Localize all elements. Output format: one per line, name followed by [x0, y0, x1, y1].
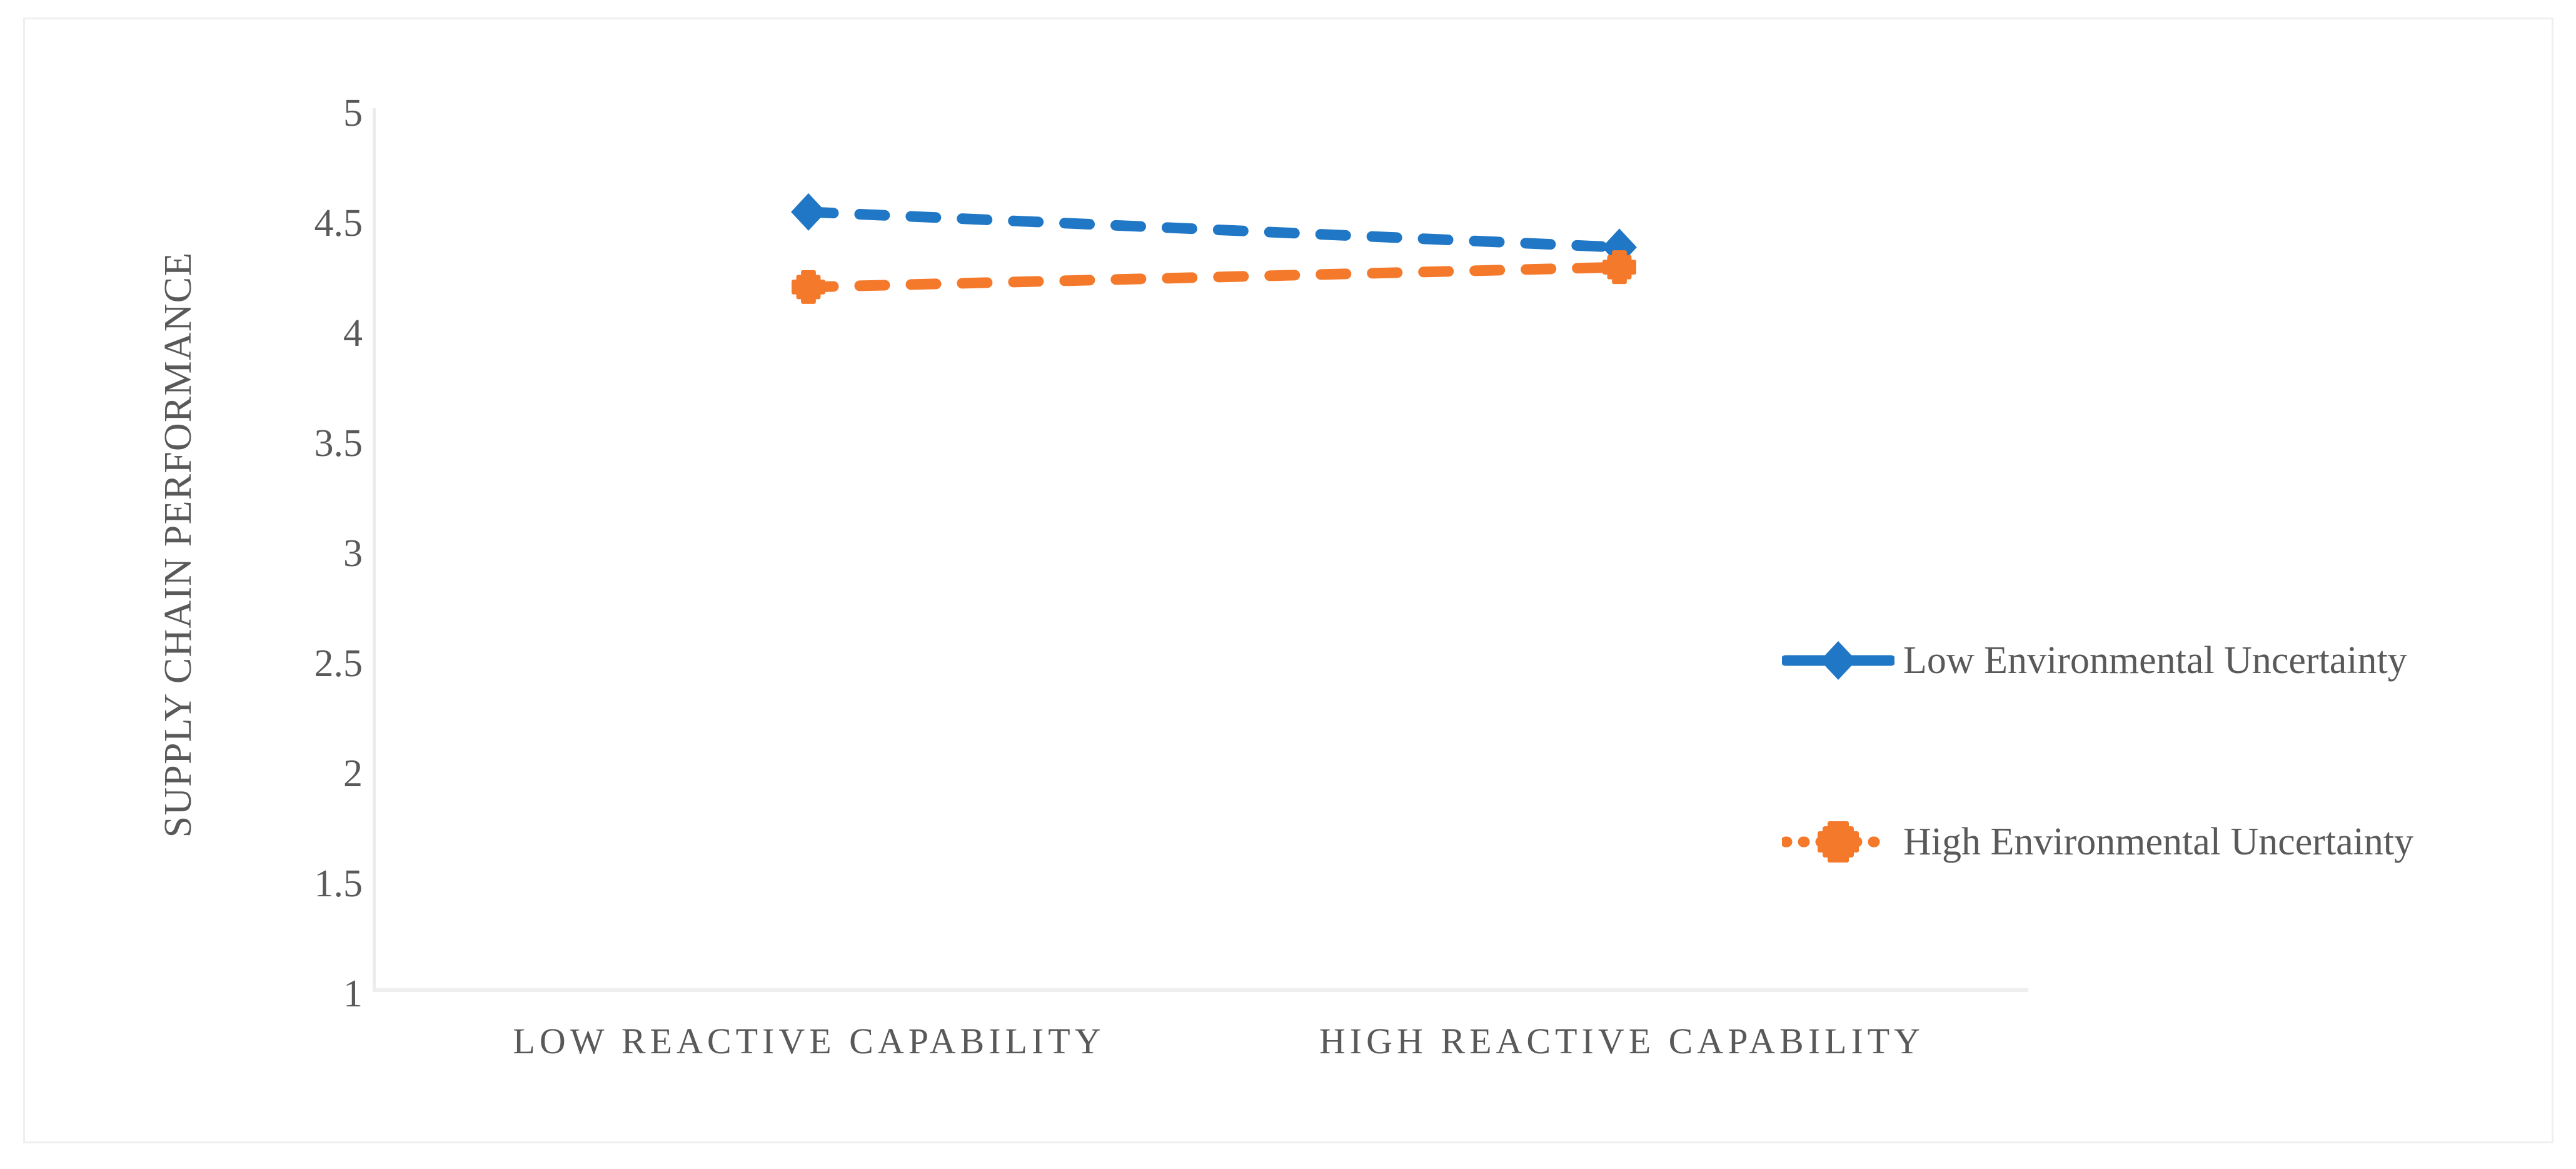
series-line — [808, 212, 1619, 247]
y-tick-label: 4 — [238, 314, 363, 353]
chart-legend: Low Environmental Uncertainty High Envir… — [1782, 632, 2495, 870]
plot-area — [373, 108, 2030, 991]
legend-item-label: Low Environmental Uncertainty — [1894, 639, 2407, 683]
x-axis-tick-labels: LOW REACTIVE CAPABILITY HIGH REACTIVE CA… — [373, 1020, 2030, 1076]
y-tick-label: 1.5 — [238, 864, 363, 903]
legend-item-low-environmental-uncertainty[interactable]: Low Environmental Uncertainty — [1782, 632, 2407, 689]
y-tick-label: 3 — [238, 534, 363, 573]
y-axis-tick-labels: 5 4.5 4 3.5 3 2.5 2 1.5 1 — [238, 94, 363, 1008]
y-tick-label: 2 — [238, 754, 363, 793]
legend-item-high-environmental-uncertainty[interactable]: High Environmental Uncertainty — [1782, 814, 2413, 870]
series-layer — [791, 193, 1637, 304]
series-marker — [1602, 250, 1636, 284]
series-marker — [791, 193, 826, 231]
y-tick-label: 3.5 — [238, 424, 363, 463]
legend-item-label: High Environmental Uncertainty — [1894, 820, 2413, 864]
x-cross-marker-icon — [1782, 814, 1894, 870]
x-tick-label: LOW REACTIVE CAPABILITY — [403, 1020, 1215, 1062]
series-line — [808, 267, 1619, 287]
y-tick-label: 5 — [238, 94, 363, 133]
y-tick-label: 1 — [238, 974, 363, 1013]
x-tick-label: HIGH REACTIVE CAPABILITY — [1215, 1020, 2028, 1062]
series-marker — [792, 270, 825, 304]
y-tick-label: 2.5 — [238, 644, 363, 683]
diamond-marker-icon — [1782, 632, 1894, 689]
y-tick-label: 4.5 — [238, 204, 363, 243]
y-axis-title: SUPPLY CHAIN PERFORMANCE — [150, 201, 206, 889]
series-plot — [373, 108, 2030, 991]
chart-figure: SUPPLY CHAIN PERFORMANCE 5 4.5 4 3.5 3 2… — [23, 18, 2553, 1143]
